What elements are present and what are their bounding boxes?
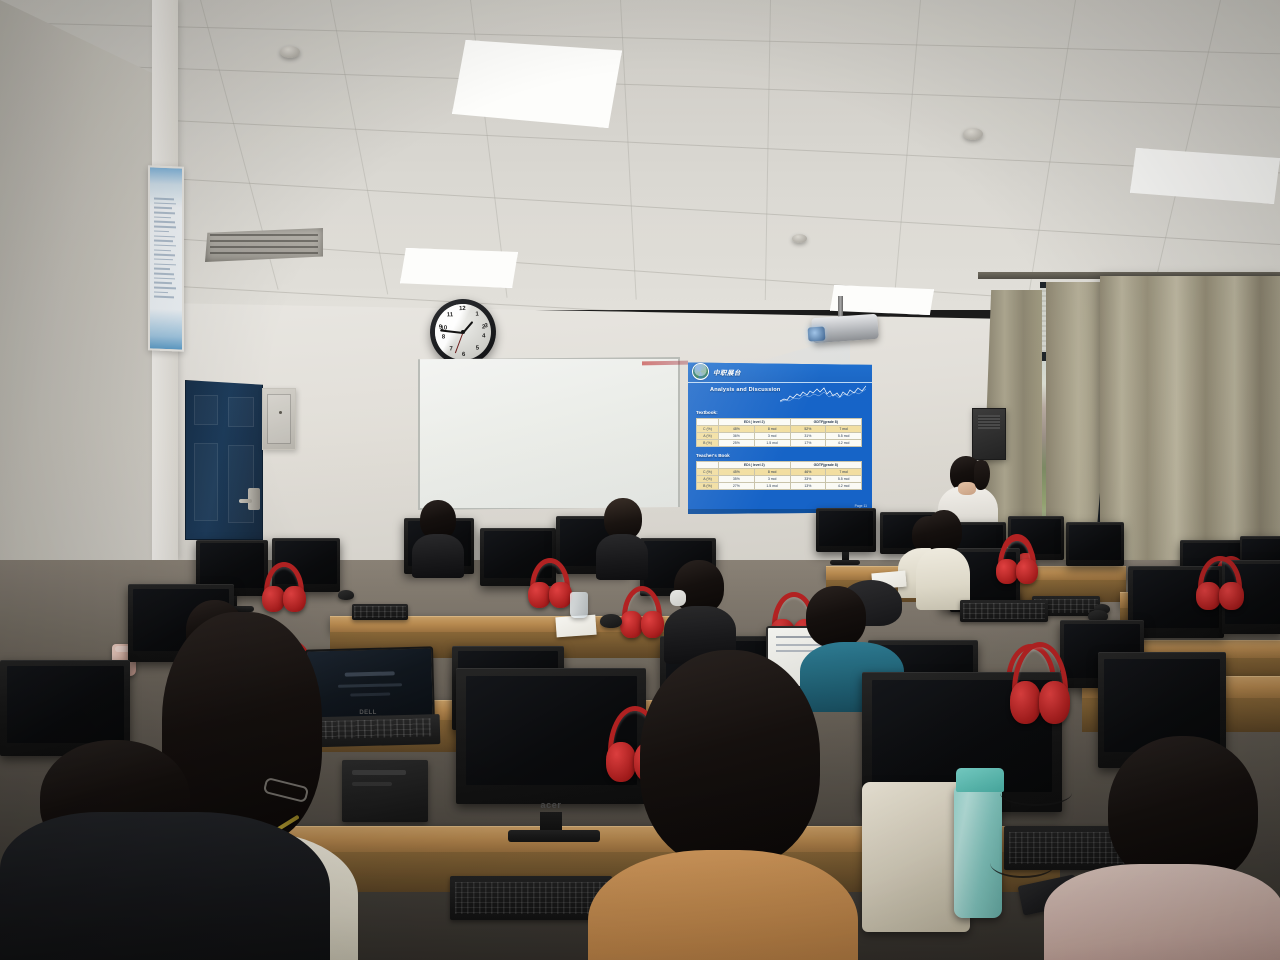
student-head bbox=[640, 650, 820, 866]
table-row: C (%) 48% 8 mol 52% 7 mol bbox=[697, 426, 862, 433]
table-col-blank bbox=[697, 462, 719, 469]
table-header-row: EDI ( level 2) GDTF(grade 8) bbox=[697, 419, 862, 426]
student-foreground-far-left bbox=[0, 740, 330, 960]
slide-table-teachers-book: EDI ( level 2) GDTF(grade 8) C (%) 45% 8… bbox=[696, 461, 862, 490]
classroom-door[interactable] bbox=[185, 380, 263, 540]
face-mask bbox=[670, 590, 686, 606]
smoke-detector-icon bbox=[963, 128, 983, 140]
thermos-lid bbox=[956, 768, 1004, 792]
slide-header-text: 中职展台 bbox=[713, 367, 741, 377]
classroom-photo: 12 1 2 3 4 5 6 7 8 9 10 11 bbox=[0, 0, 1280, 960]
presentation-slide[interactable]: 中职展台 Analysis and Discussion Textbook: E… bbox=[688, 361, 872, 514]
student-body bbox=[412, 534, 464, 578]
red-headphones bbox=[1012, 642, 1068, 724]
desktop-monitor bbox=[816, 508, 876, 552]
student-foreground-right bbox=[1044, 736, 1280, 960]
red-headphones bbox=[998, 536, 1036, 584]
table-row: A (%) 36% 3 mol 31% 5.5 mol bbox=[697, 433, 862, 440]
whiteboard-red-marking bbox=[642, 361, 688, 366]
slide-section-label-textbook: Textbook: bbox=[696, 410, 718, 415]
student-row3-center bbox=[664, 560, 736, 646]
table-col-edi: EDI ( level 2) bbox=[719, 419, 791, 426]
poster-text-lines bbox=[154, 197, 178, 301]
ceiling-tile-grid bbox=[0, 0, 1280, 310]
ceiling bbox=[0, 0, 1280, 310]
ceiling-light-front-center bbox=[452, 40, 622, 128]
electrical-panel-box bbox=[262, 388, 296, 450]
table-row: B (%) 25% 1.5 mol 17% 4.2 mol bbox=[697, 440, 862, 447]
table-row: B (%) 27% 1.5 mol 13% 4.2 mol bbox=[697, 483, 862, 490]
smoke-detector-icon bbox=[792, 234, 807, 243]
red-headphones bbox=[622, 586, 662, 638]
table-col-gdtf: GDTF(grade 8) bbox=[790, 462, 862, 469]
student-body bbox=[1044, 864, 1280, 960]
student-foreground-tan-coat bbox=[588, 650, 858, 960]
laptop-brand-label: DELL bbox=[359, 710, 376, 716]
slide-table-textbook: EDI ( level 2) GDTF(grade 8) C (%) 48% 8… bbox=[696, 418, 862, 447]
table-header-row: EDI ( level 2) GDTF(grade 8) bbox=[697, 462, 862, 469]
student-row2-left bbox=[412, 500, 464, 564]
student-body bbox=[0, 812, 330, 960]
monitor-brand-label: acer bbox=[541, 800, 562, 810]
red-headphones bbox=[530, 558, 570, 608]
whiteboard[interactable] bbox=[418, 357, 680, 510]
red-headphones bbox=[264, 562, 304, 612]
student-row2-center bbox=[596, 498, 648, 564]
table-row: C (%) 45% 8 mol 46% 7 mol bbox=[697, 469, 862, 476]
projector-mount-pole bbox=[838, 296, 843, 318]
table-col-blank bbox=[697, 419, 719, 426]
wall-clock: 12 1 2 3 4 5 6 7 8 9 10 11 bbox=[429, 298, 497, 366]
thermos-bottle bbox=[954, 786, 1002, 918]
mouse bbox=[600, 614, 622, 628]
table-row: A (%) 35% 3 mol 33% 5.5 mol bbox=[697, 476, 862, 483]
wall-poster bbox=[148, 165, 184, 352]
printed-handout bbox=[555, 615, 596, 638]
student-head bbox=[806, 586, 866, 648]
trend-line-graphic bbox=[780, 383, 866, 403]
keyboard[interactable] bbox=[352, 604, 408, 620]
slide-title: Analysis and Discussion bbox=[710, 387, 781, 393]
student-row2-right bbox=[916, 510, 970, 606]
table-col-edi: EDI ( level 2) bbox=[719, 462, 791, 469]
table-col-gdtf: GDTF(grade 8) bbox=[790, 419, 862, 426]
clear-cup bbox=[570, 592, 588, 618]
wall-speaker bbox=[972, 408, 1006, 460]
projector-lens-icon bbox=[808, 326, 826, 341]
student-body bbox=[596, 534, 648, 580]
door-handle-icon[interactable] bbox=[248, 488, 260, 510]
red-headphones bbox=[1198, 556, 1242, 610]
keyboard[interactable] bbox=[960, 600, 1048, 622]
ceiling-light-front-right bbox=[830, 285, 934, 315]
desktop-monitor bbox=[1066, 522, 1124, 566]
institution-logo bbox=[692, 363, 709, 380]
ceiling-light-mid-left bbox=[400, 248, 518, 288]
air-vent-icon bbox=[205, 228, 323, 262]
mouse bbox=[338, 590, 354, 600]
student-body bbox=[588, 850, 858, 960]
slide-section-label-teachers-book: Teacher's Book bbox=[696, 453, 730, 458]
smoke-detector-icon bbox=[280, 46, 300, 58]
